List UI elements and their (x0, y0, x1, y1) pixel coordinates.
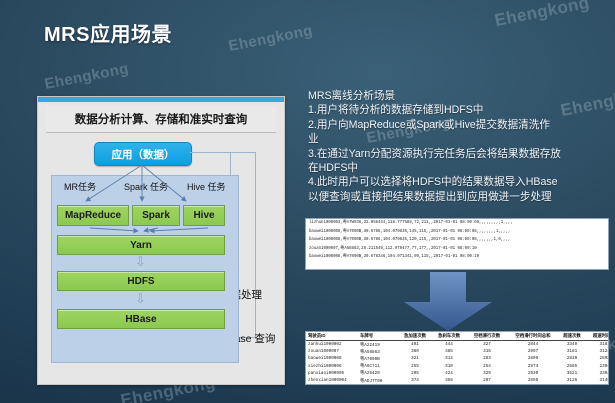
raw-data-row: zouan1000007,粤A58863,28.211549,112.97947… (306, 245, 608, 254)
table-cell: 31494 (586, 377, 609, 384)
column-header: 超速时间总和 (586, 332, 609, 341)
description-line: 4.此时用户可以选择将HDFS中的结果数据导入HBase (308, 175, 608, 189)
table-cell: zouan1000007 (306, 348, 358, 355)
table-cell: 28922 (586, 355, 609, 362)
table-body: zanhui1000002粤A2241940144432728443349318… (306, 341, 609, 385)
description-line: 1.用户将待分析的数据存储到HDFS中 (308, 103, 608, 117)
table-cell: 295 (398, 370, 432, 377)
hadoop-stack-region: MR任务 Spark 任务 Hive 任务 MapReduce Spark Hi… (51, 175, 239, 363)
description-line: 2.用户向MapReduce或Spark或Hive提交数据清洗作 (308, 118, 608, 132)
task-label-mr: MR任务 (64, 180, 96, 193)
table-cell: 329 (466, 370, 508, 377)
table-cell: 3349 (558, 341, 586, 349)
table-cell: 23942 (586, 363, 609, 370)
column-header: 急刹车次数 (432, 332, 466, 341)
engine-box-mapreduce[interactable]: MapReduce (57, 205, 129, 226)
raw-data-row: lizhun1000003,粤A7W936,32.056444,118.7775… (306, 219, 608, 228)
table-cell: 粤ADJ7T60 (358, 377, 398, 384)
table-header-row: 驾驶员ID 车牌号 急加速次数 急刹车次数 空档滑行次数 空档滑行时间总和 超速… (306, 332, 609, 341)
description-heading: MRS离线分析场景 (308, 89, 608, 103)
app-data-box[interactable]: 应用（数据） (94, 142, 192, 166)
table-cell: 31813 (586, 341, 609, 349)
table-cell: 283 (466, 355, 508, 362)
description-line: 3.在通过Yarn分配资源执行完任务后会将结果数据存放 (308, 147, 608, 161)
task-label-hive: Hive 任务 (187, 180, 226, 193)
table-cell: 321 (398, 355, 432, 362)
table-cell: 255 (398, 363, 432, 370)
task-label-spark: Spark 任务 (124, 180, 168, 193)
table-cell: 360 (398, 348, 432, 355)
panel-header-title: 数据分析计算、存储和准实时查询 (46, 106, 276, 133)
column-header: 车牌号 (358, 332, 398, 341)
table-cell: 314 (432, 355, 466, 362)
table-cell: 3126 (558, 377, 586, 384)
watermark-text: Ehengkong (43, 60, 130, 93)
table-cell: 424 (432, 370, 466, 377)
table-cell: 297 (466, 377, 508, 384)
layer-box-hdfs[interactable]: HDFS (57, 271, 225, 291)
result-table-grid: 驾驶员ID 车牌号 急加速次数 急刹车次数 空档滑行次数 空档滑行时间总和 超速… (306, 332, 609, 384)
table-cell: 33946 (586, 370, 609, 377)
big-down-arrow-icon (400, 272, 496, 332)
table-cell: 3181 (558, 348, 586, 355)
watermark-text: Ehengkong (493, 0, 591, 31)
raw-data-row: baowei1000008,粤A7090B,30.6786,104.070835… (306, 228, 608, 237)
connector-hbase-vertical (255, 152, 256, 337)
table-cell: 401 (398, 341, 432, 349)
table-row: zanhui1000002粤A2241940144432728443349318… (306, 341, 609, 349)
description-block: MRS离线分析场景 1.用户将待分析的数据存储到HDFS中 2.用户向MapRe… (308, 89, 608, 204)
description-line: 业 (308, 132, 608, 146)
table-cell: panxiaoi000005 (306, 370, 358, 377)
table-row: xiezhi1000006粤A6C71125531025429742585239… (306, 363, 609, 370)
watermark-text: Ehengkong (227, 22, 314, 55)
table-cell: zhenxian1000004 (306, 377, 358, 384)
column-header: 空档滑行时间总和 (508, 332, 558, 341)
engine-box-hive[interactable]: Hive (183, 205, 225, 226)
table-row: zouan1000007粤A58863360385315299731813124… (306, 348, 609, 355)
connector-top-horizontal (190, 152, 256, 153)
table-cell: 2930 (508, 370, 558, 377)
architecture-panel: 数据分析计算、存储和准实时查询 应用（数据） 数据处理 HBase 查询 MR任… (37, 96, 285, 385)
table-cell: 3521 (558, 370, 586, 377)
table-cell: 2974 (508, 363, 558, 370)
table-cell: 374 (398, 377, 432, 384)
table-cell: 385 (432, 348, 466, 355)
table-cell: zanhui1000002 (306, 341, 358, 349)
table-cell: 444 (432, 341, 466, 349)
table-cell: 254 (466, 363, 508, 370)
table-cell: 31248 (586, 348, 609, 355)
table-cell: 粤A25420 (358, 370, 398, 377)
description-line: 在HDFS中 (308, 161, 608, 175)
table-cell: 2850 (508, 377, 558, 384)
raw-data-preview: lizhun1000003,粤A7W936,32.056444,118.7775… (305, 218, 609, 270)
table-cell: 315 (466, 348, 508, 355)
table-row: panxiaoi000005粤A254202954243292930352133… (306, 370, 609, 377)
table-cell: 2997 (508, 348, 558, 355)
column-header: 急加速次数 (398, 332, 432, 341)
table-cell: 2809 (508, 355, 558, 362)
column-header: 空档滑行次数 (466, 332, 508, 341)
result-table: 驾驶员ID 车牌号 急加速次数 急刹车次数 空档滑行次数 空档滑行时间总和 超速… (305, 331, 609, 385)
table-row: baowei1000008粤A7090B32131428328092829289… (306, 355, 609, 362)
table-cell: 356 (432, 377, 466, 384)
table-cell: 粤A6C711 (358, 363, 398, 370)
engine-box-spark[interactable]: Spark (132, 205, 180, 226)
layer-box-hbase[interactable]: HBase (57, 309, 225, 329)
raw-data-row: baowei1000008,粤A7090B,30.678346,104.0713… (306, 253, 608, 262)
table-cell: xiezhi1000006 (306, 363, 358, 370)
table-cell: 2585 (558, 363, 586, 370)
table-row: zhenxian1000004粤ADJ7T6037435629728503126… (306, 377, 609, 384)
table-cell: 粤A7090B (358, 355, 398, 362)
table-cell: 310 (432, 363, 466, 370)
table-cell: 327 (466, 341, 508, 349)
description-line: 以便查询或直接把结果数据提出到应用做进一步处理 (308, 190, 608, 204)
panel-accent-bar (38, 97, 284, 102)
table-cell: baowei1000008 (306, 355, 358, 362)
column-header: 超速次数 (558, 332, 586, 341)
raw-data-row: baowei1000008,粤A7090B,30.6786,104.070835… (306, 236, 608, 245)
slide-canvas: EhengkongEhengkongEhengkongEhengkongEhen… (0, 0, 615, 403)
down-arrow-icon-hdfs-hbase: ⇩ (135, 292, 146, 305)
down-arrow-icon-yarn-hdfs: ⇩ (135, 255, 146, 268)
table-cell: 粤A22419 (358, 341, 398, 349)
table-cell: 2829 (558, 355, 586, 362)
layer-box-yarn[interactable]: Yarn (57, 235, 225, 255)
column-header: 驾驶员ID (306, 332, 358, 341)
page-title: MRS应用场景 (44, 18, 172, 47)
table-cell: 粤A58863 (358, 348, 398, 355)
table-cell: 2844 (508, 341, 558, 349)
